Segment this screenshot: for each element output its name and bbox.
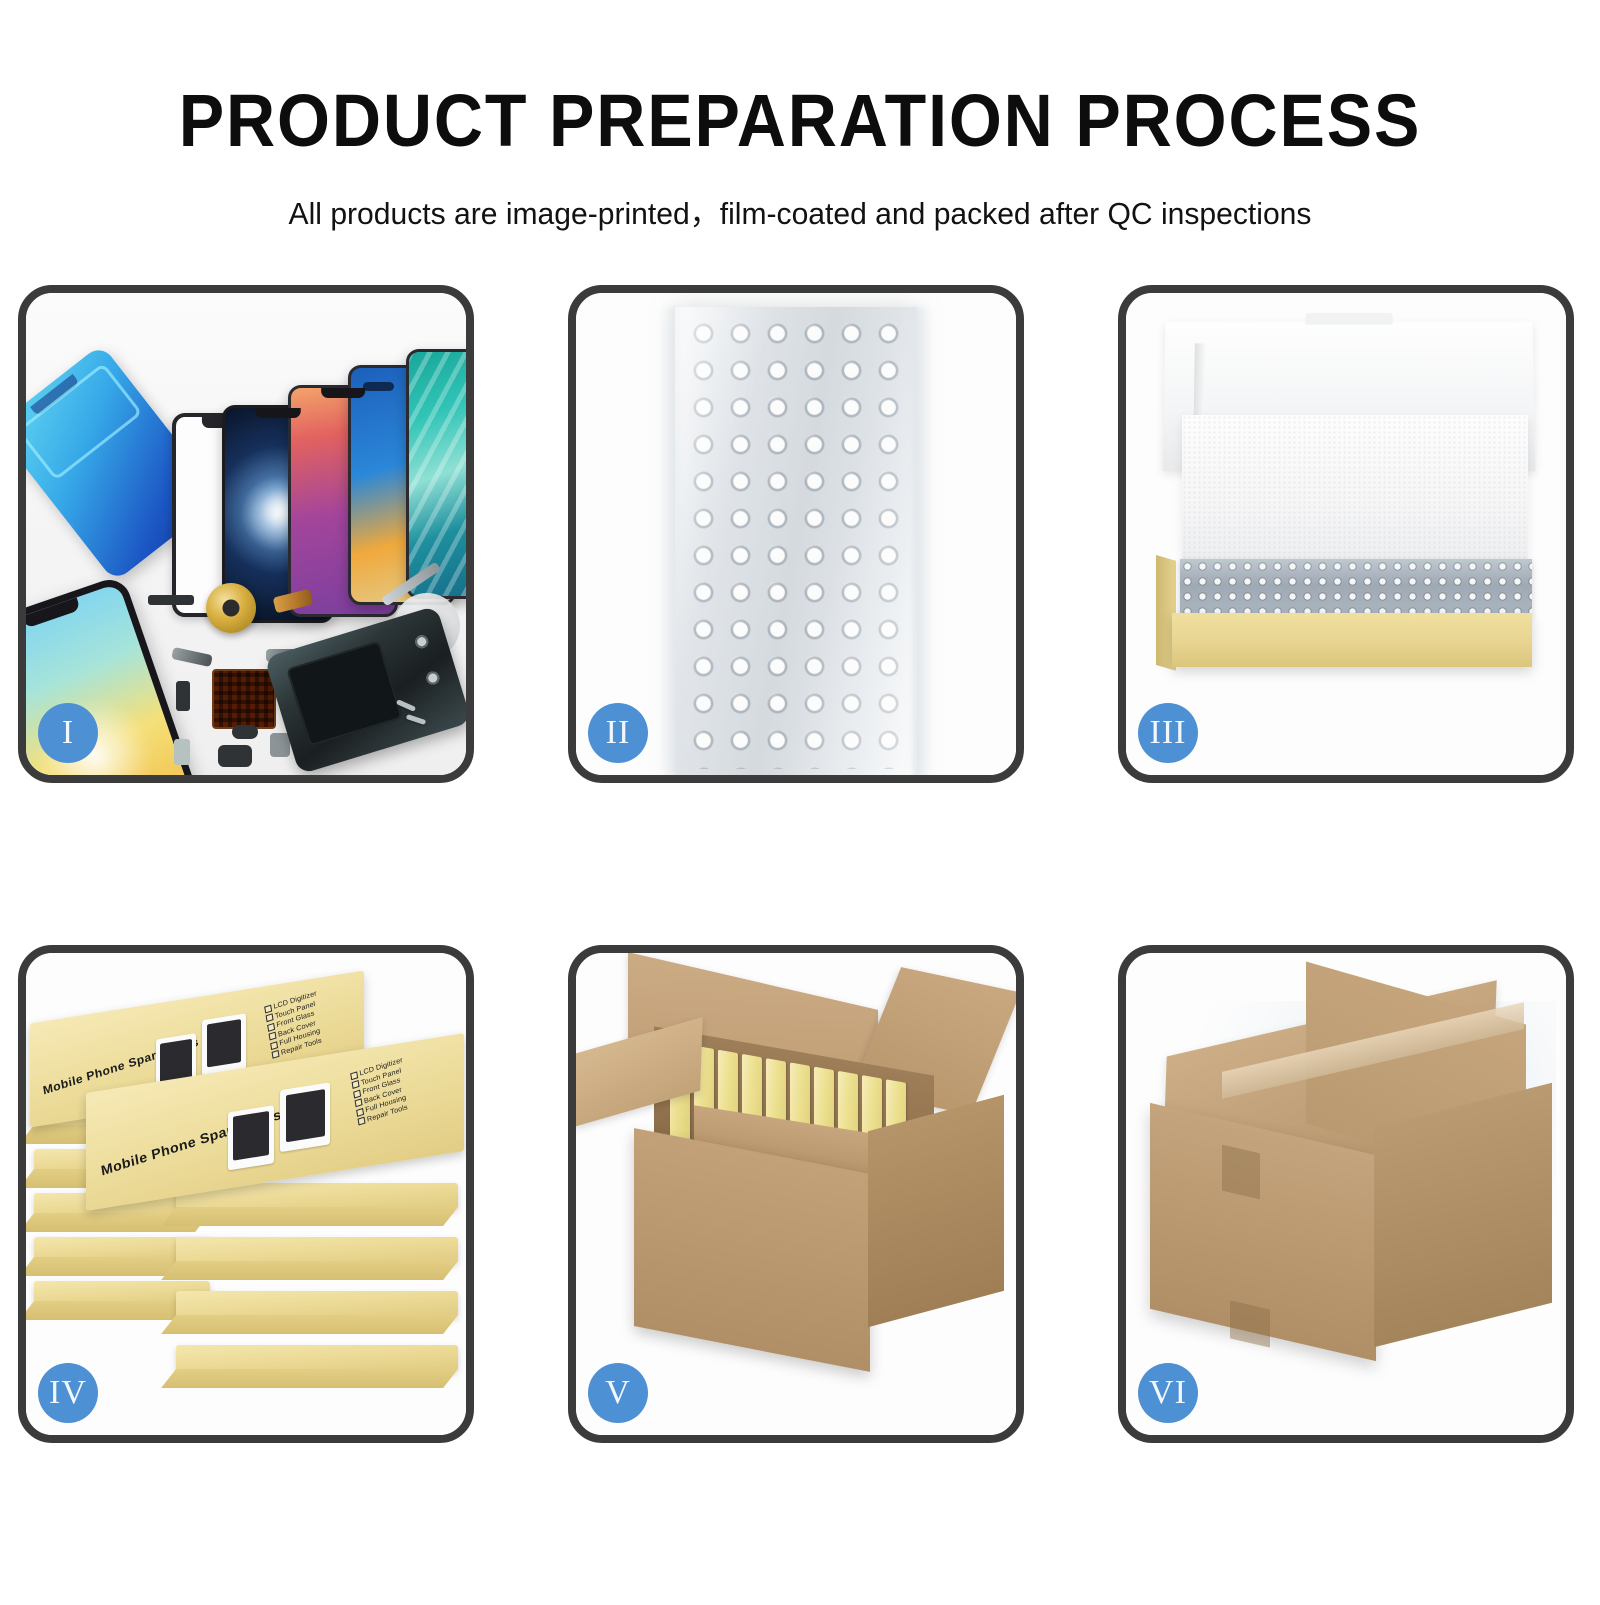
bubble-pattern-graphic [685,315,907,769]
ic-chip-part-graphic [212,669,276,729]
step-4-image: Mobile Phone Spare Parts LCD Digitizer T… [26,953,466,1435]
carton-side-face-graphic [868,1095,1004,1327]
page-title: PRODUCT PREPARATION PROCESS [64,84,1536,158]
retail-box-phone-image [228,1105,274,1170]
sim-tray-part-graphic [174,739,190,765]
phone-parts-scene [26,293,466,775]
chassis-hole-graphic [425,670,441,686]
step-3-image [1126,293,1566,775]
foam-sheet-graphic [1182,415,1528,569]
retail-box-checklist: LCD Digitizer Touch Panel Front Glass Ba… [350,1055,411,1126]
screws-graphic [396,703,450,729]
box-side-graphic [161,1261,458,1280]
step-badge-3: III [1138,703,1198,763]
stacked-box [176,1291,458,1317]
speaker-coil-part-graphic [206,583,256,633]
earpiece-part-graphic [148,595,194,605]
step-badge-2: II [588,703,648,763]
step-badge-6: VI [1138,1363,1198,1423]
lcd-notch-graphic [30,374,80,417]
small-part-graphic [232,725,258,739]
process-step-panel-6: VI [1118,945,1574,1443]
gold-box-stack: Mobile Phone Spare Parts LCD Digitizer T… [26,953,466,1435]
retail-box-phone-image [202,1013,246,1076]
tape-tab-graphic [1222,1145,1260,1200]
process-step-panel-3: III [1118,285,1574,783]
small-part-graphic [176,681,190,711]
stacked-boxes-scene: Mobile Phone Spare Parts LCD Digitizer T… [26,953,466,1435]
step-1-image [26,293,466,775]
step-2-image [576,293,1016,775]
box-lid-tab-graphic [1305,313,1392,325]
step-badge-5: V [588,1363,648,1423]
process-row-bottom: Mobile Phone Spare Parts LCD Digitizer T… [18,945,1582,1445]
stacked-box [176,1237,458,1263]
box-side-graphic [161,1369,458,1388]
small-part-graphic [270,733,290,757]
phone-chassis-graphic [264,605,466,774]
step-6-image [1126,953,1566,1435]
teal-screen-phone-graphic [406,349,466,599]
open-gold-box-scene [1126,293,1566,775]
page-subtitle: All products are image-printed，film-coat… [24,198,1576,229]
bubble-wrap-scene [576,293,1016,775]
taptic-engine-part-graphic [218,745,252,767]
stacked-box [176,1345,458,1371]
process-step-panel-1: I [18,285,474,783]
retail-box-checklist: LCD Digitizer Touch Panel Front Glass Ba… [264,988,325,1059]
open-carton-scene [576,953,1016,1435]
bubble-wrapped-product-graphic [675,307,917,775]
process-row-top: I II [18,285,1582,785]
infographic-page: PRODUCT PREPARATION PROCESS All products… [0,0,1600,1600]
process-grid: I II [18,285,1582,1605]
phone-notch-graphic [256,408,301,418]
sealed-carton-scene [1126,953,1566,1435]
step-badge-4: IV [38,1363,98,1423]
retail-box-phone-image [280,1082,330,1152]
gold-box-body-graphic [1172,613,1532,667]
box-side-graphic [161,1315,458,1334]
punch-hole-camera-graphic [363,382,394,391]
step-badge-1: I [38,703,98,763]
flex-cable-part-graphic [171,647,213,667]
chassis-hole-graphic [414,634,430,650]
box-side-graphic [161,1207,458,1226]
step-5-image [576,953,1016,1435]
screw-graphic [406,714,427,725]
carton-right-face-graphic [1374,1083,1552,1347]
process-step-panel-2: II [568,285,1024,783]
process-step-panel-4: Mobile Phone Spare Parts LCD Digitizer T… [18,945,474,1443]
phone-notch-graphic [321,388,365,398]
process-step-panel-5: V [568,945,1024,1443]
header: PRODUCT PREPARATION PROCESS All products… [0,0,1600,229]
tape-tab-graphic [1230,1300,1270,1347]
bubble-wrapped-contents-graphic [1180,559,1532,617]
